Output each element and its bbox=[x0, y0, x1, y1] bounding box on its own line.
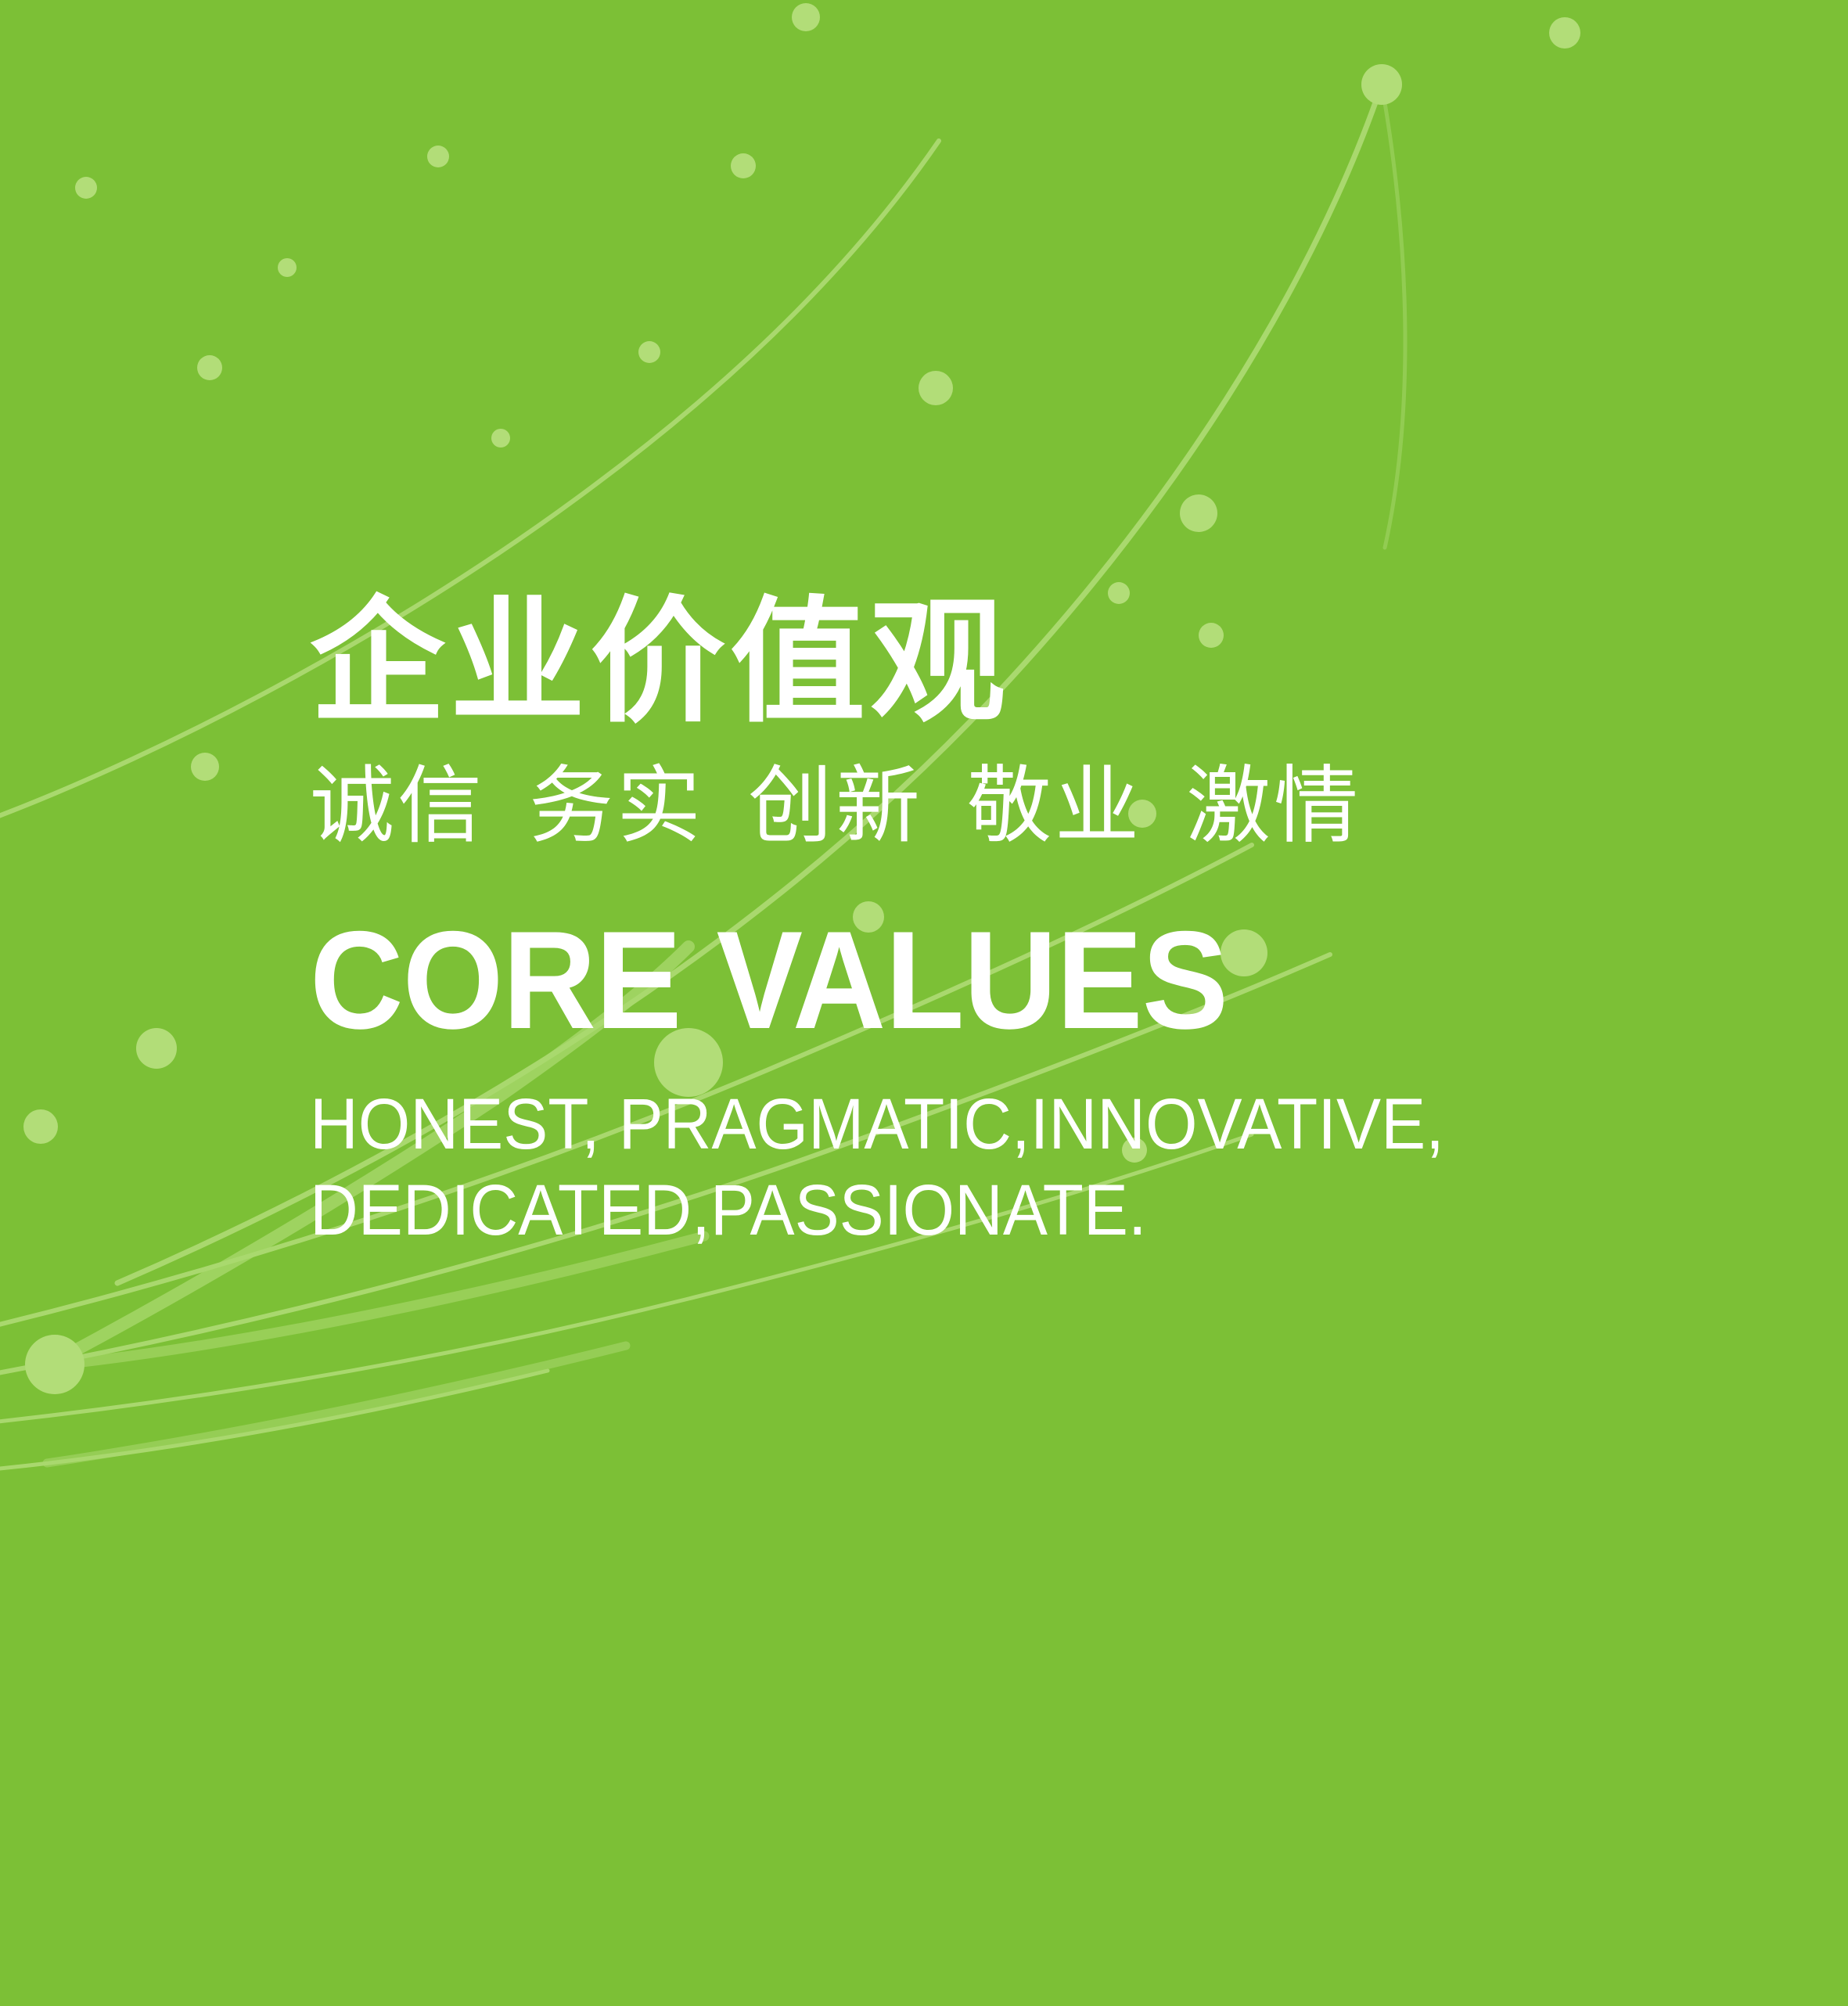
body-text-en: HONEST, PRAGMATIC,INNOVATIVE, DEDICATED,… bbox=[310, 1050, 1620, 1254]
decor-node bbox=[197, 355, 222, 380]
body-text-line-1: HONEST, PRAGMATIC,INNOVATIVE, bbox=[310, 1081, 1620, 1167]
decor-node bbox=[427, 146, 449, 167]
poster-content: 企业价值观 诚信务实创新敬业激情 CORE VALUES HONEST, PRA… bbox=[310, 595, 1718, 1254]
core-values-poster: 企业价值观 诚信务实创新敬业激情 CORE VALUES HONEST, PRA… bbox=[0, 0, 1848, 2006]
decor-node bbox=[23, 1109, 58, 1144]
value-word-2: 务实 bbox=[529, 757, 704, 855]
decor-spoke-3 bbox=[47, 1346, 626, 1463]
value-word-4: 敬业 bbox=[967, 757, 1142, 855]
decor-node bbox=[25, 1335, 84, 1394]
decor-node bbox=[136, 1028, 177, 1069]
decor-curve-fan-4 bbox=[0, 1371, 548, 1471]
decor-node bbox=[1549, 17, 1580, 49]
value-word-5: 激情 bbox=[1186, 757, 1361, 855]
body-text-line-2: DEDICATED,PASSIONATE. bbox=[310, 1167, 1620, 1253]
decor-node bbox=[278, 258, 297, 277]
decor-node bbox=[1361, 64, 1402, 105]
decor-node bbox=[75, 177, 97, 199]
decor-curve-branch-top bbox=[1382, 84, 1405, 548]
decor-node bbox=[919, 371, 953, 405]
decor-node bbox=[731, 153, 756, 178]
decor-node bbox=[792, 3, 820, 31]
subtitle-cn: 诚信务实创新敬业激情 bbox=[310, 730, 1718, 854]
value-word-3: 创新 bbox=[748, 757, 923, 855]
decor-node bbox=[1180, 494, 1217, 532]
value-word-1: 诚信 bbox=[310, 757, 485, 855]
decor-node bbox=[191, 753, 219, 781]
decor-spoke-2 bbox=[55, 1236, 704, 1365]
decor-node bbox=[491, 429, 510, 448]
decor-node bbox=[638, 341, 660, 363]
page-title-en: CORE VALUES bbox=[310, 854, 1620, 1050]
page-title-cn: 企业价值观 bbox=[310, 595, 1718, 730]
